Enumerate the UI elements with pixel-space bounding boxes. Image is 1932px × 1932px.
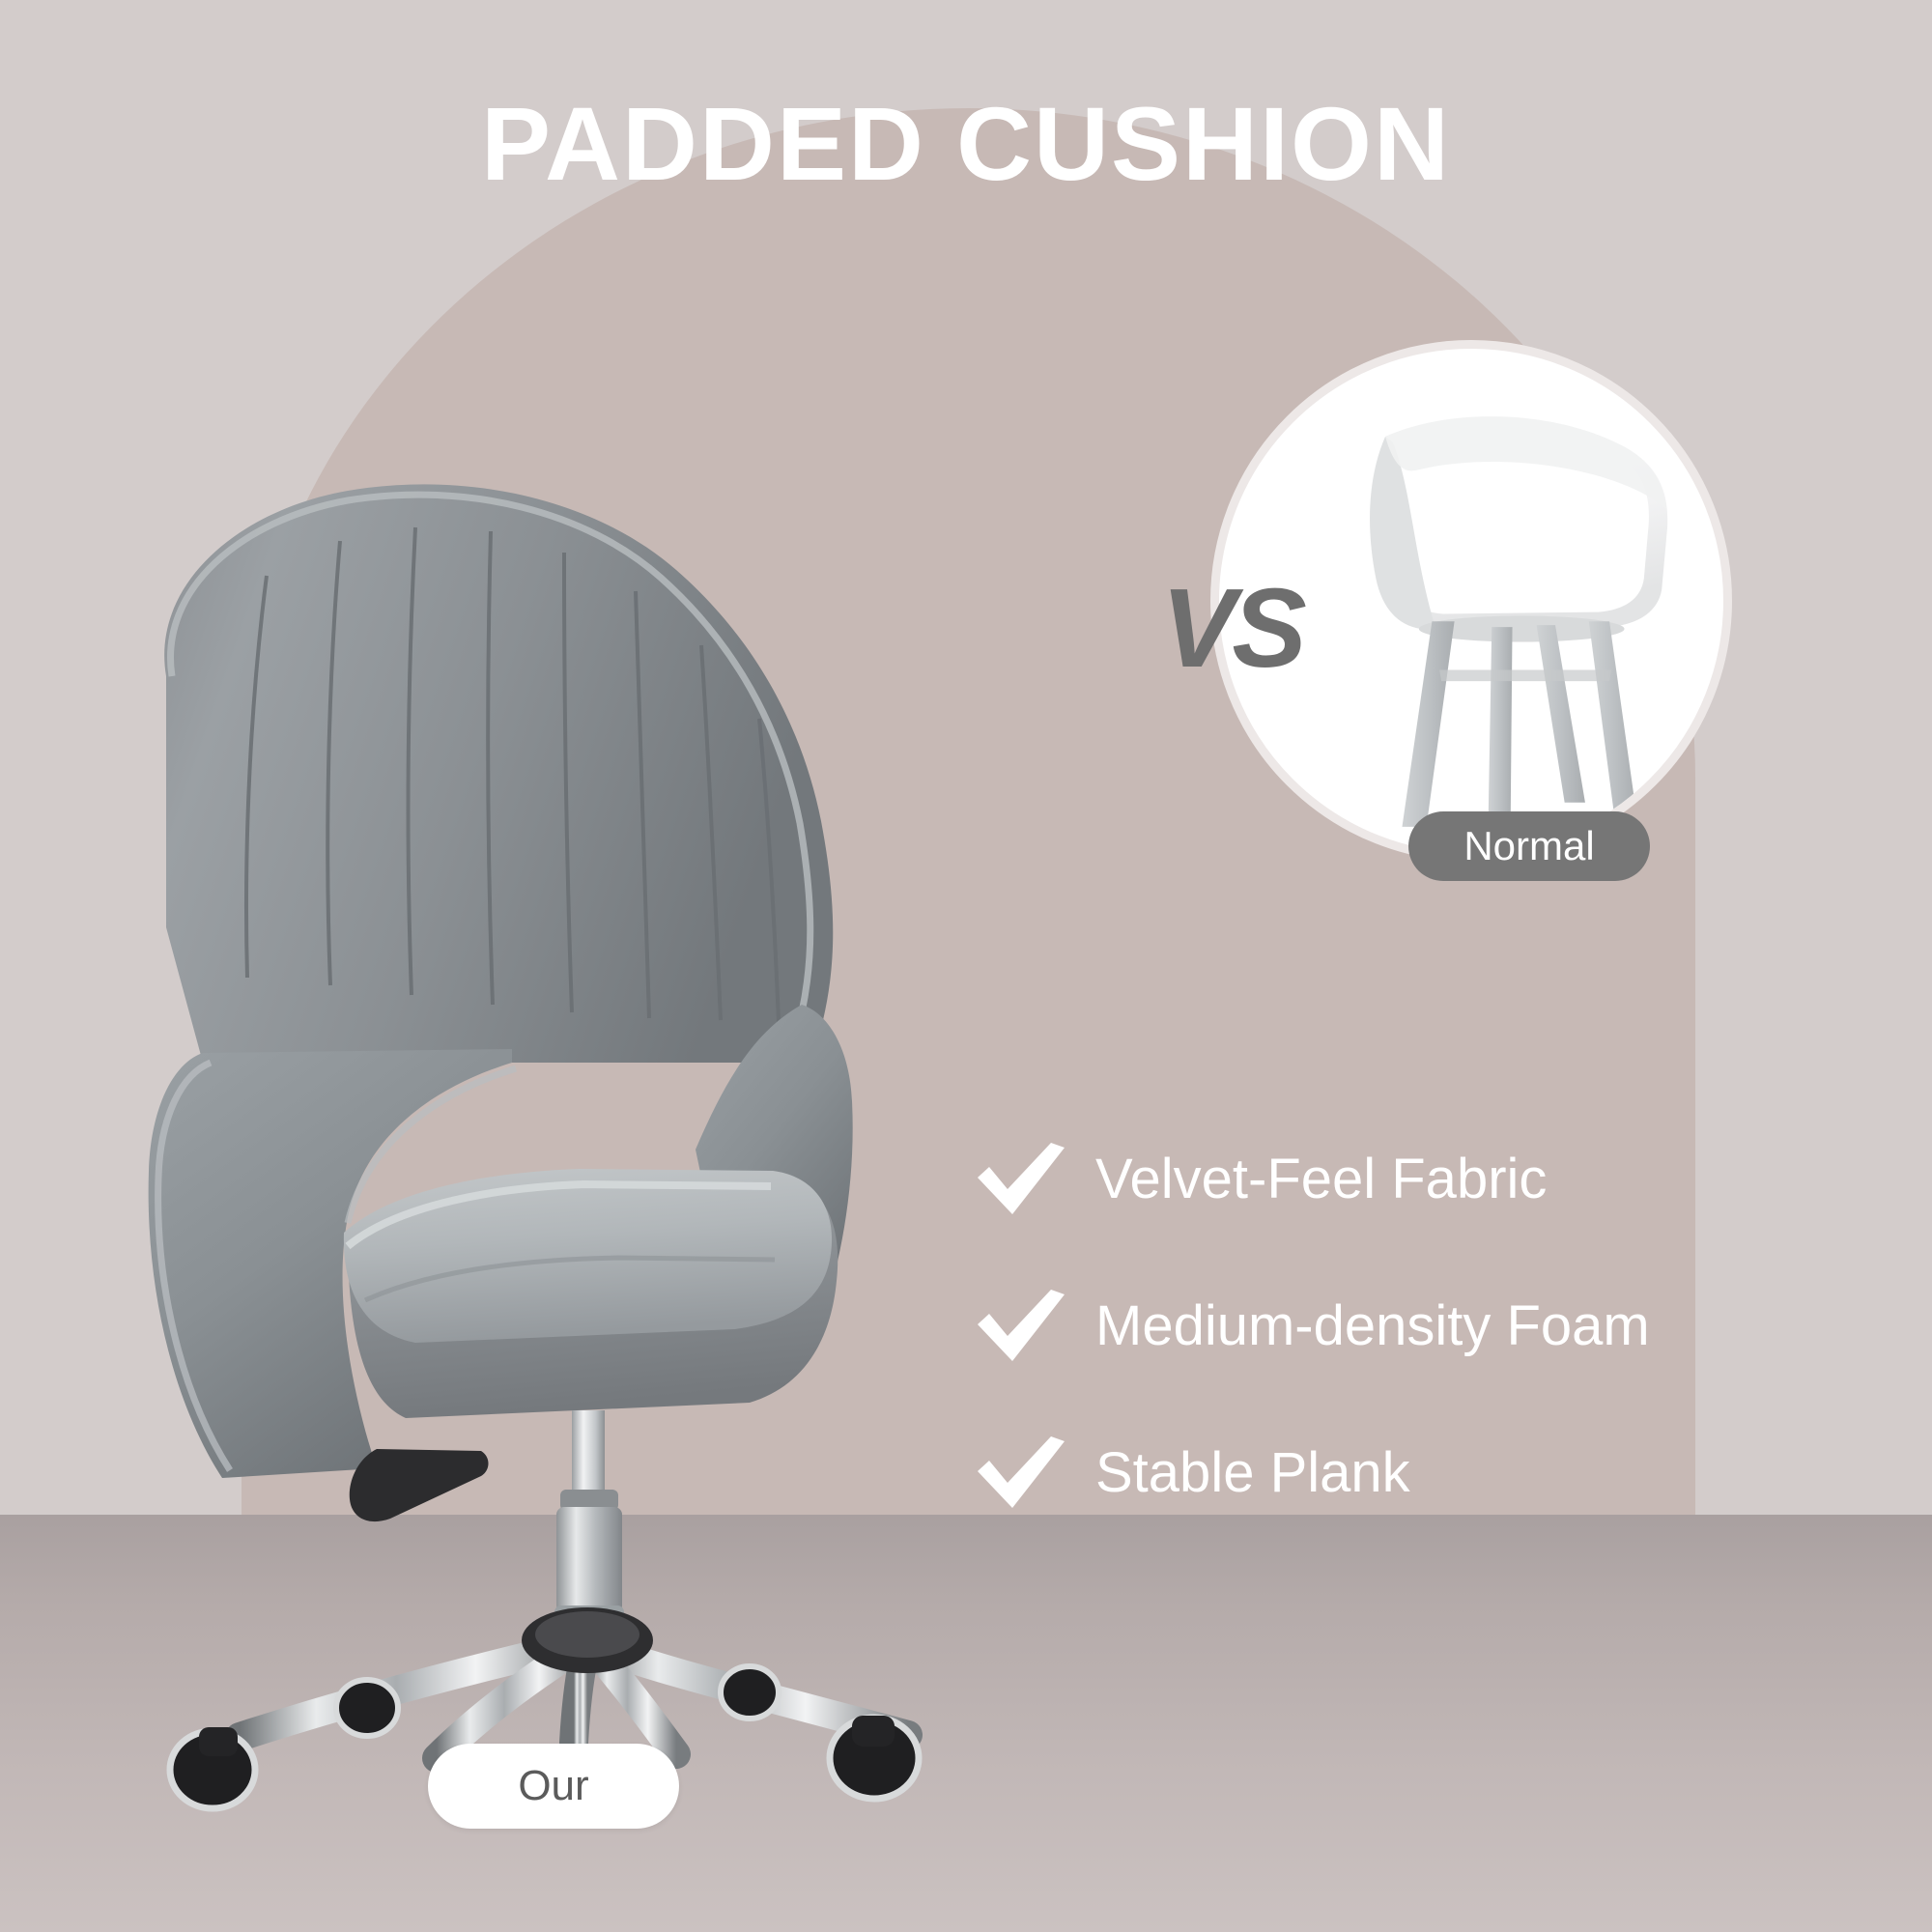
check-icon bbox=[976, 1288, 1068, 1365]
feature-label: Velvet-Feel Fabric bbox=[1095, 1151, 1547, 1207]
page-title: PADDED CUSHION bbox=[0, 89, 1932, 198]
competitor-badge-label: Normal bbox=[1463, 823, 1594, 869]
feature-item: Medium-density Foam bbox=[976, 1253, 1845, 1400]
feature-list: Velvet-Feel Fabric Medium-density Foam S… bbox=[976, 1106, 1845, 1547]
our-product-badge-label: Our bbox=[518, 1762, 588, 1810]
vs-label: VS bbox=[1161, 572, 1303, 684]
product-poster: PADDED CUSHION bbox=[0, 0, 1932, 1932]
feature-label: Medium-density Foam bbox=[1095, 1298, 1650, 1354]
our-product-badge: Our bbox=[428, 1744, 679, 1829]
feature-item: Stable Plank bbox=[976, 1400, 1845, 1547]
competitor-badge: Normal bbox=[1408, 811, 1650, 881]
product-image-our-chair bbox=[58, 386, 1024, 1816]
check-icon bbox=[976, 1141, 1068, 1218]
check-icon bbox=[976, 1435, 1068, 1512]
feature-label: Stable Plank bbox=[1095, 1445, 1410, 1501]
feature-item: Velvet-Feel Fabric bbox=[976, 1106, 1845, 1253]
